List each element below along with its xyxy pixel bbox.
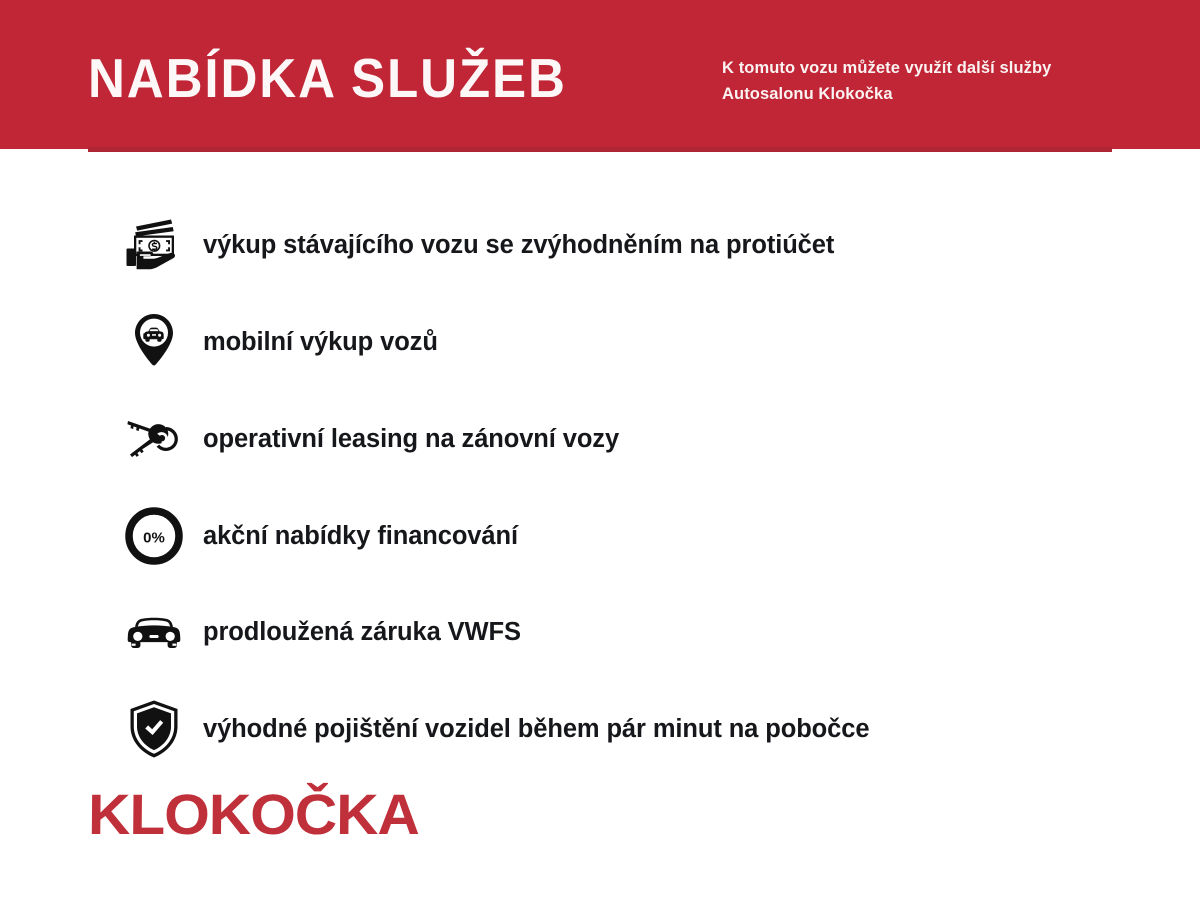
header-subtitle-line-2: Autosalonu Klokočka <box>722 81 1122 107</box>
cash-in-hand-icon <box>118 209 190 281</box>
page-title: NABÍDKA SLUŽEB <box>88 48 567 108</box>
klokocka-logo-text: KLOKOČKA <box>88 787 419 843</box>
service-item: operativní leasing na zánovní vozy <box>118 400 619 478</box>
service-item-label: prodloužená záruka VWFS <box>203 618 521 647</box>
service-item: výkup stávajícího vozu se zvýhodněním na… <box>118 206 834 284</box>
shield-check-icon <box>118 693 190 765</box>
service-item: 0% akční nabídky financování <box>118 497 518 575</box>
slide-root: NABÍDKA SLUŽEB K tomuto vozu můžete využ… <box>0 0 1200 899</box>
klokocka-logo: KLOKOČKA <box>88 787 409 843</box>
service-item: prodloužená záruka VWFS <box>118 593 521 671</box>
car-keys-icon <box>118 403 190 475</box>
header-subtitle-line-1: K tomuto vozu můžete využít další služby <box>722 55 1122 81</box>
map-pin-car-icon <box>118 306 190 378</box>
car-front-icon <box>118 596 190 668</box>
service-item: výhodné pojištění vozidel během pár minu… <box>118 690 869 768</box>
service-item-label: akční nabídky financování <box>203 522 518 551</box>
zero-percent-circle-icon: 0% <box>118 500 190 572</box>
service-item: mobilní výkup vozů <box>118 303 438 381</box>
header-subtitle: K tomuto vozu můžete využít další služby… <box>722 55 1122 107</box>
service-item-label: výhodné pojištění vozidel během pár minu… <box>203 715 869 744</box>
header: NABÍDKA SLUŽEB K tomuto vozu můžete využ… <box>0 0 1200 149</box>
zero-percent-label: 0% <box>143 530 165 547</box>
service-item-label: mobilní výkup vozů <box>203 328 438 357</box>
service-item-label: operativní leasing na zánovní vozy <box>203 425 619 454</box>
service-item-label: výkup stávajícího vozu se zvýhodněním na… <box>203 231 834 260</box>
